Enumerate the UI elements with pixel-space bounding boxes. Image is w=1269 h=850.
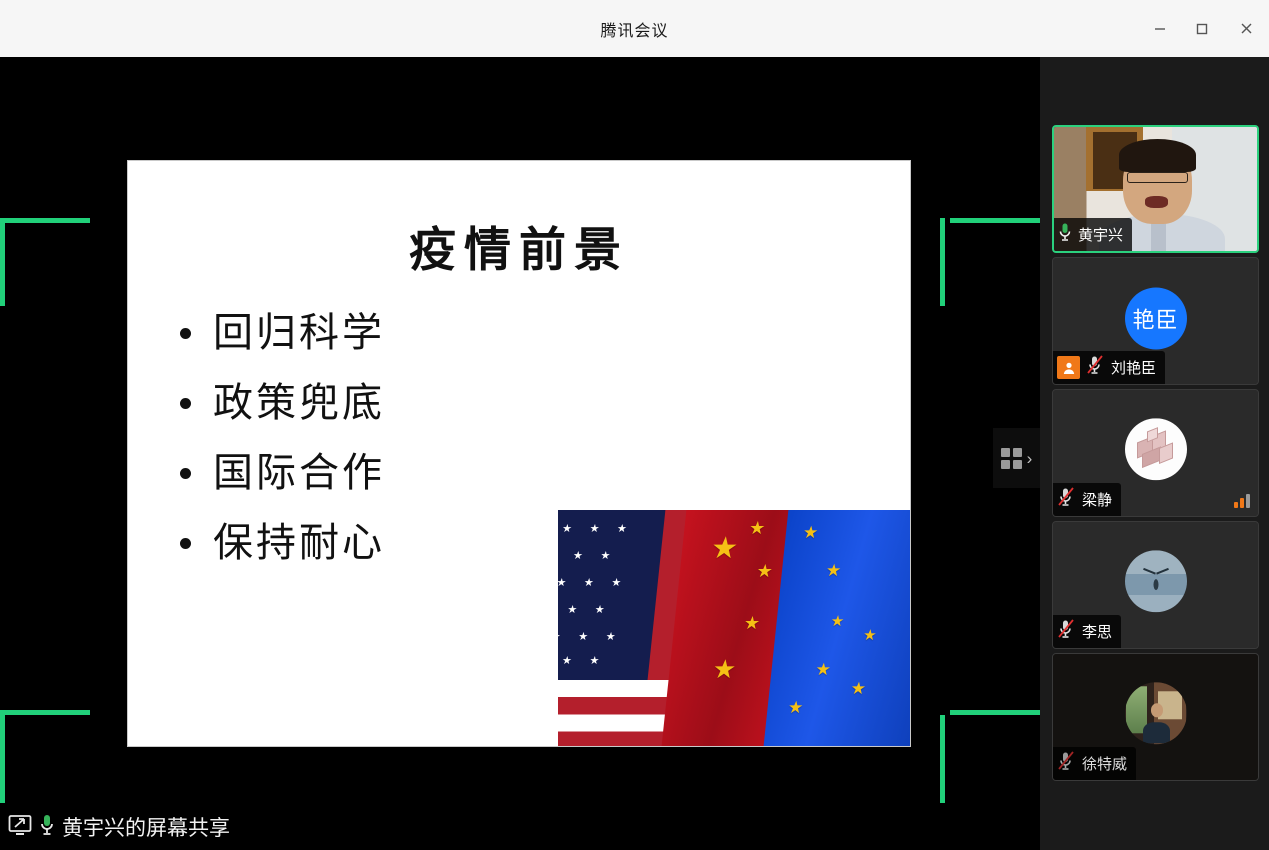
toggle-sidebar-layout-button[interactable]: › xyxy=(993,428,1040,488)
microphone-unmuted-icon xyxy=(39,813,55,842)
bullet-dot-icon xyxy=(180,538,191,549)
avatar xyxy=(1125,682,1187,744)
chevron-right-icon: › xyxy=(1027,450,1033,467)
close-button[interactable] xyxy=(1223,0,1269,57)
participant-name-overlay: 黄宇兴 xyxy=(1054,218,1132,251)
window-controls xyxy=(1139,0,1269,57)
grid-icon xyxy=(1001,448,1022,469)
microphone-muted-icon xyxy=(1086,355,1105,380)
slide-bullet-list: 回归科学 政策兜底 国际合作 保持耐心 xyxy=(180,313,385,593)
microphone-icon xyxy=(1058,222,1072,247)
participant-name: 李思 xyxy=(1082,621,1112,642)
maximize-button[interactable] xyxy=(1181,0,1223,57)
window-title: 腾讯会议 xyxy=(600,17,668,41)
participant-name-overlay: 李思 xyxy=(1053,615,1121,648)
tencent-meeting-window: 腾讯会议 疫情前景 回归科学 xyxy=(0,0,1269,850)
participant-name-overlay: 梁静 xyxy=(1053,483,1121,516)
participant-tile[interactable]: 徐特威 xyxy=(1052,653,1259,781)
bullet-dot-icon xyxy=(180,398,191,409)
slide-bullet-item: 回归科学 xyxy=(180,313,385,353)
participant-tile[interactable]: 艳臣 刘艳臣 xyxy=(1052,257,1259,385)
screen-share-owner-label: 黄宇兴的屏幕共享 xyxy=(62,812,230,842)
participant-tile[interactable]: 李思 xyxy=(1052,521,1259,649)
slide-bullet-text: 保持耐心 xyxy=(213,523,385,563)
participant-name: 徐特威 xyxy=(1082,753,1127,774)
slide-bullet-text: 回归科学 xyxy=(213,313,385,353)
title-bar: 腾讯会议 xyxy=(0,0,1269,57)
participant-tile[interactable]: 梁静 xyxy=(1052,389,1259,517)
slide-flags-image: ★ ★ ★ ★ ★ ★ ★ ★ ★ ★ ★ ★ ★ xyxy=(558,510,910,746)
screen-share-status-bar: 黄宇兴的屏幕共享 xyxy=(0,804,1040,850)
slide-bullet-item: 保持耐心 xyxy=(180,523,385,563)
slide-title: 疫情前景 xyxy=(128,211,910,280)
microphone-muted-icon xyxy=(1057,751,1076,776)
host-person-icon xyxy=(1057,356,1080,379)
avatar: 艳臣 xyxy=(1125,288,1187,350)
participant-name-overlay: 刘艳臣 xyxy=(1053,351,1165,384)
avatar xyxy=(1125,550,1187,612)
slide-bullet-text: 政策兜底 xyxy=(213,383,385,423)
bullet-dot-icon xyxy=(180,328,191,339)
participant-name: 刘艳臣 xyxy=(1111,357,1156,378)
slide-bullet-item: 政策兜底 xyxy=(180,383,385,423)
screen-share-icon xyxy=(8,814,32,841)
microphone-muted-icon xyxy=(1057,619,1076,644)
slide-bullet-text: 国际合作 xyxy=(213,453,385,493)
flags-illustration: ★ ★ ★ ★ ★ ★ ★ ★ ★ ★ ★ ★ ★ xyxy=(558,510,910,746)
bullet-dot-icon xyxy=(180,468,191,479)
presentation-slide: 疫情前景 回归科学 政策兜底 国际合作 保持耐心 xyxy=(128,161,910,746)
slide-bullet-item: 国际合作 xyxy=(180,453,385,493)
participant-name-overlay: 徐特威 xyxy=(1053,747,1136,780)
shared-screen-stage: 疫情前景 回归科学 政策兜底 国际合作 保持耐心 xyxy=(0,57,1040,850)
participant-name: 黄宇兴 xyxy=(1078,224,1123,245)
network-signal-icon xyxy=(1234,494,1250,508)
minimize-button[interactable] xyxy=(1139,0,1181,57)
participant-tile[interactable]: 黄宇兴 xyxy=(1052,125,1259,253)
avatar xyxy=(1125,418,1187,480)
microphone-muted-icon xyxy=(1057,487,1076,512)
participant-name: 梁静 xyxy=(1082,489,1112,510)
participant-rail: 黄宇兴 艳臣 xyxy=(1040,57,1269,850)
eu-flag: ★ ★ ★ ★ ★ ★ ★ xyxy=(764,510,910,746)
usa-flag-canton: ★ ★ ★ ★ ★ ★ ★ ★ ★ ★ ★ ★ ★ xyxy=(558,510,665,680)
